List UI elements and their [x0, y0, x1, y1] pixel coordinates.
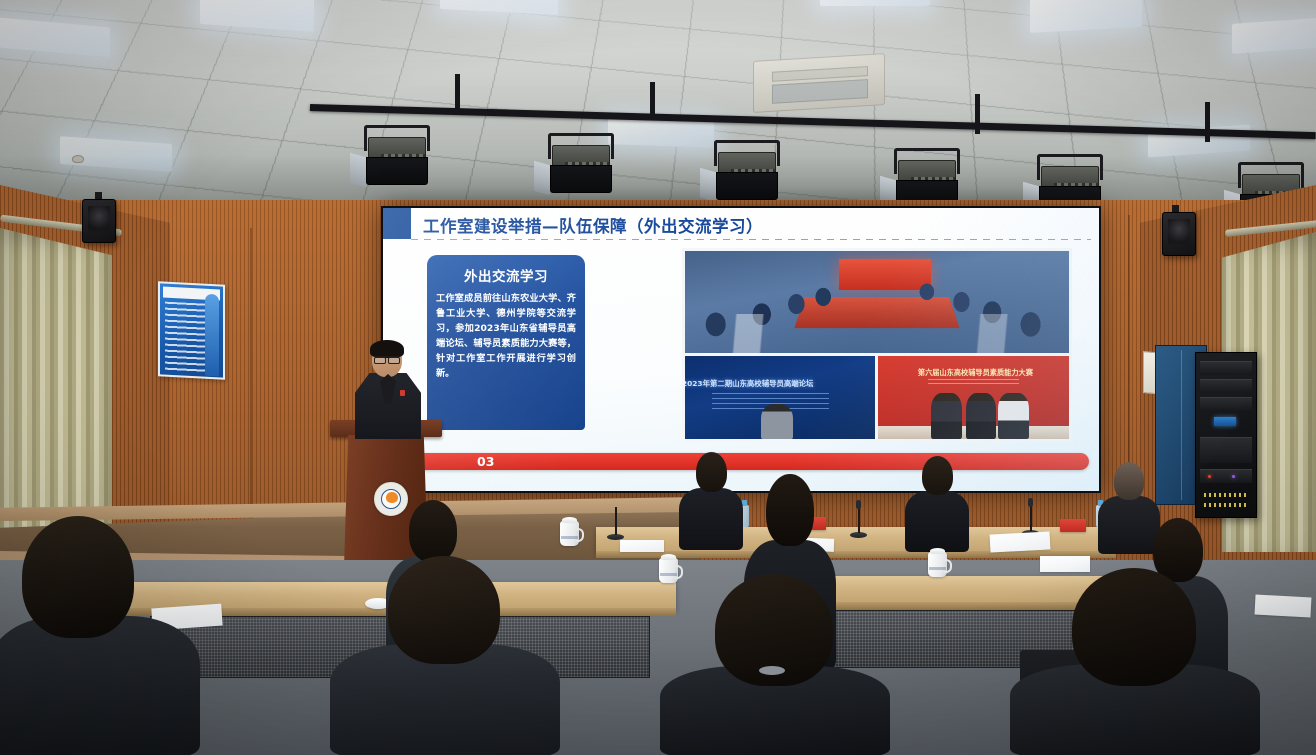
rack-unit — [1200, 379, 1252, 393]
suspended-ceiling — [0, 0, 1316, 215]
wall-speaker-right — [1162, 212, 1196, 256]
light-body — [1041, 166, 1099, 188]
light-barndoor — [366, 157, 428, 185]
person-torso — [0, 616, 200, 755]
microphone-head — [1028, 498, 1033, 507]
gooseneck-microphone — [1030, 503, 1032, 531]
competition-photo-caption: 第六届山东高校辅导员素质能力大赛 — [886, 368, 1066, 378]
person-torso — [905, 491, 969, 552]
stage-light-fixture — [362, 125, 432, 187]
microphone-head — [856, 500, 861, 509]
person-head — [922, 456, 953, 495]
rack-unit — [1200, 437, 1252, 463]
rack-led-row — [1204, 493, 1246, 497]
person-head — [696, 452, 727, 492]
truss-drop-rod — [455, 74, 460, 110]
speaker-at-podium — [355, 342, 421, 438]
status-led-purple — [1232, 475, 1235, 478]
blue-information-board — [158, 281, 225, 380]
person-torso — [679, 488, 743, 550]
audience-member-foreground — [660, 574, 890, 755]
speaker-badge — [400, 390, 405, 396]
av-equipment-rack — [1195, 352, 1257, 518]
person-head — [1114, 462, 1144, 500]
wall-speaker-left — [82, 199, 116, 243]
teacup-band — [561, 536, 578, 539]
truss-drop-rod — [975, 94, 980, 134]
slide-photo-competition: 第六届山东高校辅导员素质能力大赛 — [878, 356, 1069, 439]
forum-photo-person — [761, 404, 793, 439]
glasses-icon — [374, 356, 400, 361]
slide-photo-forum: 2023年第二期山东高校辅导员高端论坛 — [685, 356, 875, 439]
document-papers — [620, 540, 664, 552]
person-head — [409, 500, 457, 562]
rack-unit — [1200, 361, 1252, 375]
projection-screen: 工作室建设举措—队伍保障（外出交流学习） 外出交流学习 工作室成员前往山东农业大… — [381, 206, 1101, 493]
teacup-band — [929, 567, 946, 570]
light-flap — [350, 153, 366, 188]
slide-photo-meeting — [685, 251, 1069, 353]
audience-member — [679, 452, 743, 550]
card-body-text: 工作室成员前往山东农业大学、齐鲁工业大学、德州学院等交流学习，参加2023年山东… — [436, 292, 576, 381]
poster-text-lines — [165, 302, 207, 374]
truss-drop-rod — [1205, 102, 1210, 142]
forum-photo-caption: 2023年第二期山东高校辅导员高端论坛 — [685, 378, 875, 389]
name-placard — [1060, 519, 1086, 532]
person-head — [766, 474, 814, 546]
rack-unit — [1200, 397, 1252, 411]
competition-photo-person — [931, 393, 962, 439]
rack-led-row — [1204, 503, 1246, 507]
slide-corner-accent — [383, 208, 411, 239]
slide-photo-group: 2023年第二期山东高校辅导员高端论坛 第六届山东高校辅导员素质能力大赛 — [682, 248, 1072, 442]
document-papers — [1255, 595, 1312, 618]
audience-member-foreground — [0, 516, 190, 755]
gooseneck-microphone — [858, 505, 860, 533]
person-head — [1072, 568, 1196, 686]
person-head — [388, 556, 500, 664]
slide-divider — [411, 239, 1091, 240]
gooseneck-microphone — [615, 507, 617, 535]
photo-documents — [685, 314, 1069, 353]
light-barndoor — [716, 172, 778, 200]
rack-display-icon — [1214, 417, 1236, 426]
competition-photo-person — [966, 393, 997, 439]
audience-member-foreground — [330, 556, 560, 755]
lidded-teacup — [560, 521, 579, 546]
poster-side-strip — [205, 294, 219, 377]
light-body — [718, 152, 776, 174]
truss-drop-rod — [650, 82, 655, 120]
status-led-red — [1208, 475, 1211, 478]
conference-hall-photo: 工作室建设举措—队伍保障（外出交流学习） 外出交流学习 工作室成员前往山东农业大… — [0, 0, 1316, 755]
person-head — [22, 516, 134, 638]
light-body — [898, 160, 956, 182]
presentation-slide: 工作室建设举措—队伍保障（外出交流学习） 外出交流学习 工作室成员前往山东农业大… — [383, 208, 1099, 491]
stage-light-fixture — [712, 140, 782, 202]
light-flap — [700, 168, 716, 203]
card-title: 外出交流学习 — [436, 265, 576, 285]
competition-photo-person — [998, 393, 1029, 439]
document-papers — [990, 531, 1051, 552]
hair-tie — [759, 666, 785, 675]
slide-title: 工作室建设举措—队伍保障（外出交流学习） — [423, 213, 763, 237]
light-barndoor — [550, 165, 612, 193]
audience-member — [905, 456, 969, 552]
ceiling-shading — [0, 0, 1316, 215]
slide-section-number: 03 — [477, 454, 494, 469]
audience-member-foreground — [1010, 568, 1260, 755]
competition-photo-subtext — [928, 379, 1020, 386]
stage-light-fixture — [546, 133, 616, 195]
light-body — [552, 145, 610, 167]
lidded-teacup — [928, 552, 947, 577]
light-body — [368, 137, 426, 159]
light-flap — [534, 161, 550, 196]
slide-info-card: 外出交流学习 工作室成员前往山东农业大学、齐鲁工业大学、德州学院等交流学习，参加… — [427, 255, 585, 430]
